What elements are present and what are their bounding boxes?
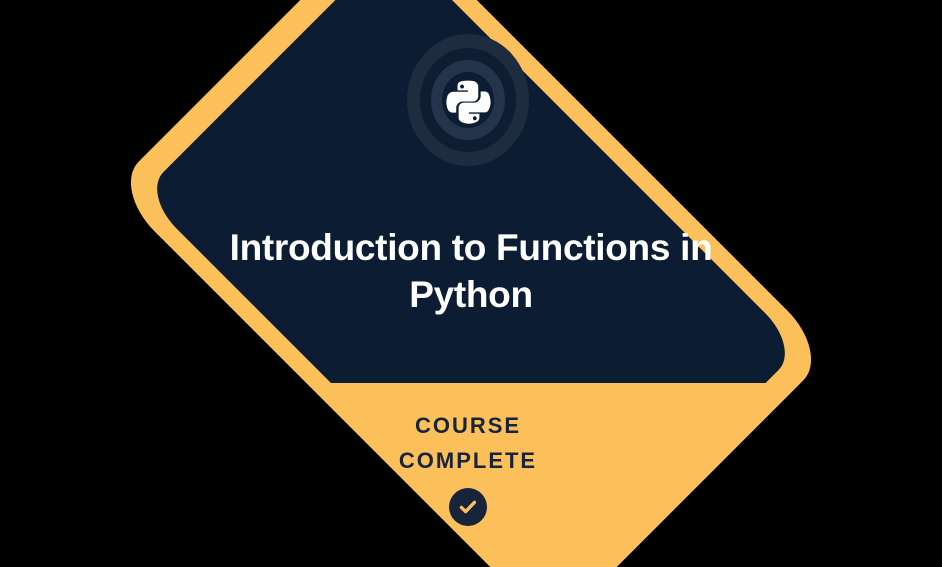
status-line-course: COURSE (268, 408, 668, 443)
check-circle-icon (449, 488, 487, 526)
completion-status: COURSE COMPLETE (268, 408, 668, 526)
status-line-complete: COMPLETE (268, 443, 668, 478)
certificate-badge-canvas: Introduction to Functions in Python COUR… (0, 0, 942, 567)
python-logo-icon (444, 76, 492, 124)
course-title: Introduction to Functions in Python (171, 224, 771, 318)
